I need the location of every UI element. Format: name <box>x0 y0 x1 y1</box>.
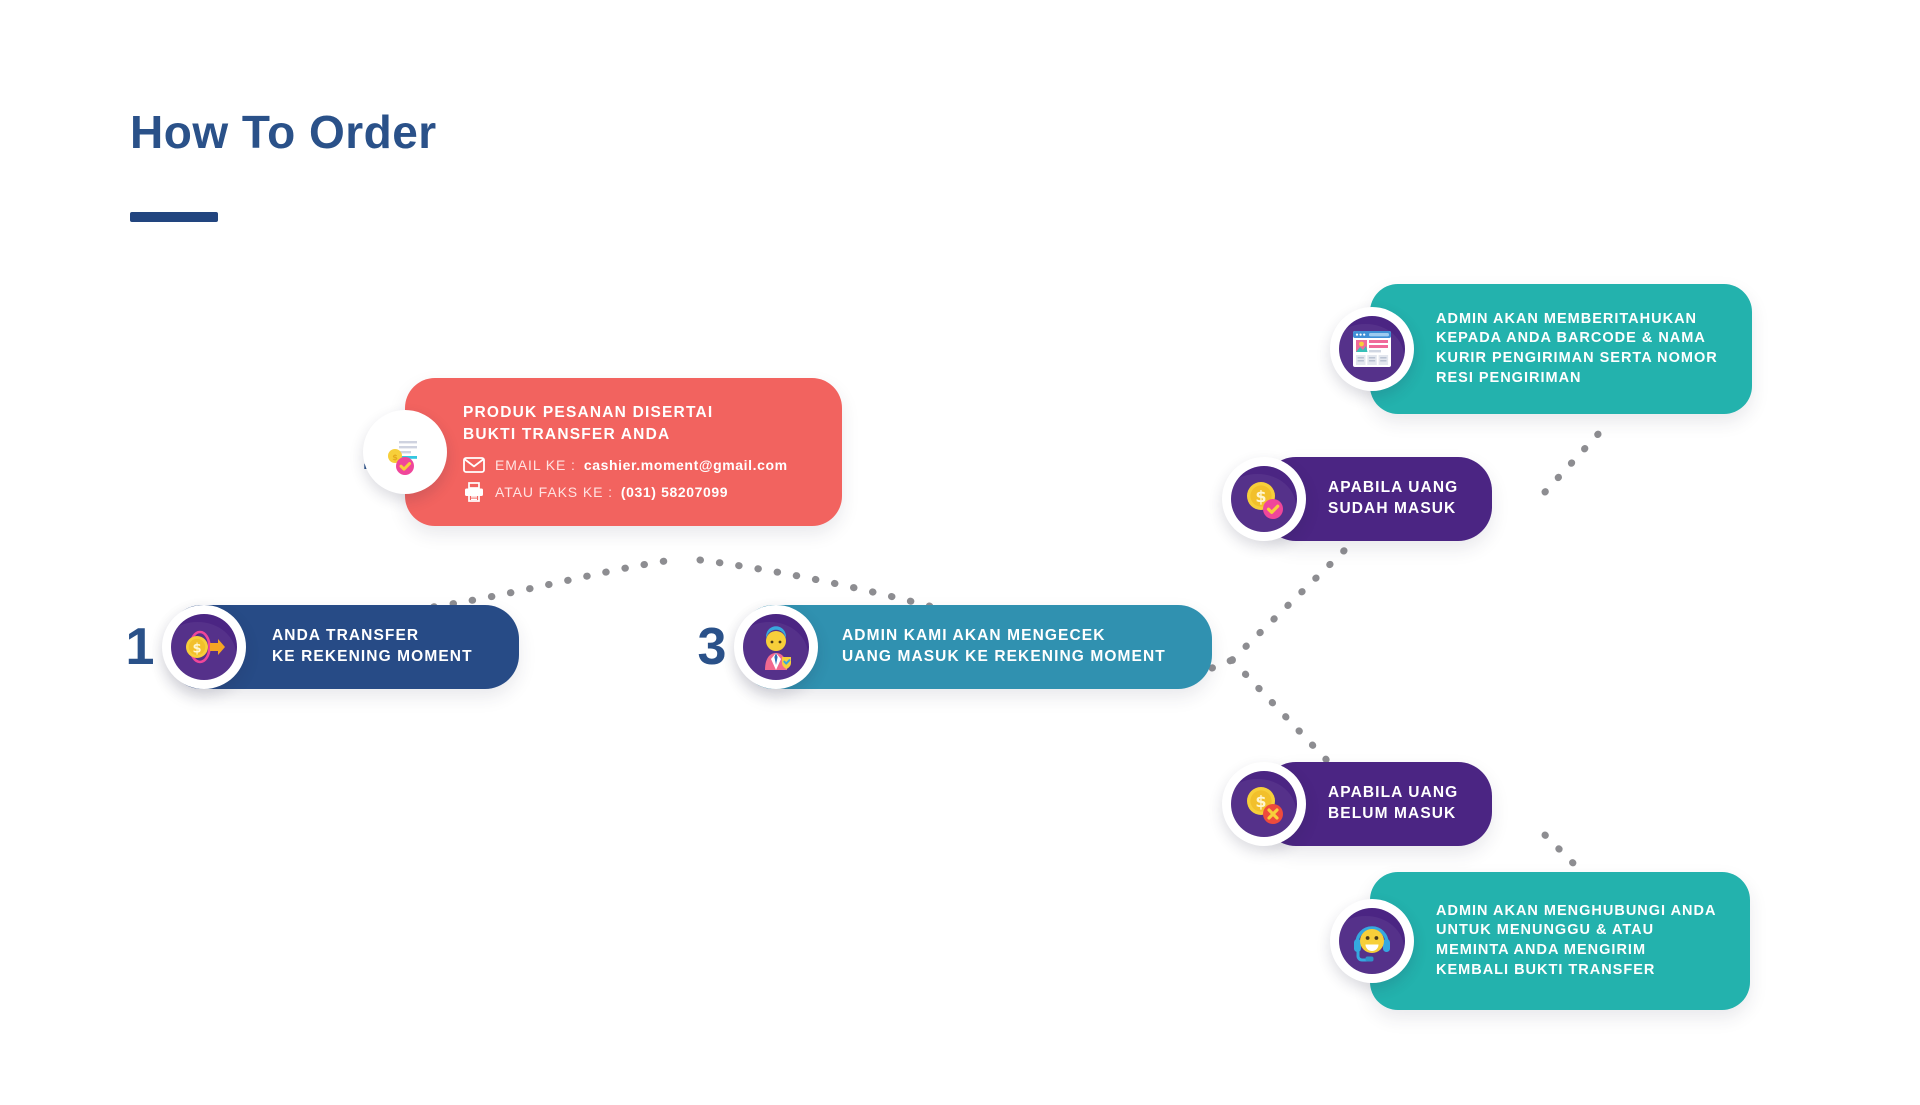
success-condition-text: APABILA UANG SUDAH MASUK <box>1306 464 1492 534</box>
infographic-canvas: How To Order .dot{ fill:none; stroke:#8d… <box>0 0 1920 1105</box>
step-3-card[interactable]: ADMIN KAMI AKAN MENGECEK UANG MASUK KE R… <box>740 605 1212 689</box>
page-title: How To Order <box>130 105 437 159</box>
step-2-body: PRODUK PESANAN DISERTAI BUKTI TRANSFER A… <box>447 394 832 510</box>
printer-icon <box>463 482 485 502</box>
step-2[interactable]: 2 $ P <box>355 378 842 526</box>
email-value[interactable]: cashier.moment@gmail.com <box>584 457 788 473</box>
step-2-card[interactable]: $ PRODUK PESANAN DISERTAI BUKTI TRANSFER… <box>405 378 842 526</box>
success-outcome-text: ADMIN AKAN MEMBERITAHUKAN KEPADA ANDA BA… <box>1414 296 1752 402</box>
fax-label: ATAU FAKS KE : <box>495 484 613 500</box>
coin-check-icon: $ <box>1222 457 1306 541</box>
coin-cross-icon: $ <box>1222 762 1306 846</box>
failure-condition[interactable]: $ APABILA UANG BELUM MASUK <box>1262 762 1492 846</box>
success-outcome-card[interactable]: ADMIN AKAN MEMBERITAHUKAN KEPADA ANDA BA… <box>1370 284 1752 414</box>
step-2-heading: PRODUK PESANAN DISERTAI BUKTI TRANSFER A… <box>463 402 788 445</box>
email-label: EMAIL KE : <box>495 457 576 473</box>
failure-condition-card[interactable]: $ APABILA UANG BELUM MASUK <box>1262 762 1492 846</box>
failure-outcome-card[interactable]: ADMIN AKAN MENGHUBUNGI ANDA UNTUK MENUNG… <box>1370 872 1750 1010</box>
failure-outcome[interactable]: ADMIN AKAN MENGHUBUNGI ANDA UNTUK MENUNG… <box>1370 872 1750 1010</box>
step-1-text: ANDA TRANSFER KE REKENING MOMENT <box>246 612 513 682</box>
connector-step3-to-branch <box>1212 660 1232 668</box>
connector-branch-to-success <box>1232 540 1355 660</box>
svg-text:$: $ <box>392 453 398 462</box>
browser-page-icon <box>1330 307 1414 391</box>
title-underline-rule <box>130 212 218 222</box>
success-condition-card[interactable]: $ APABILA UANG SUDAH MASUK <box>1262 457 1492 541</box>
step-1-card[interactable]: $ ANDA TRANSFER KE REKENING MOMENT <box>168 605 519 689</box>
step-3-text: ADMIN KAMI AKAN MENGECEK UANG MASUK KE R… <box>818 612 1206 682</box>
success-condition[interactable]: $ APABILA UANG SUDAH MASUK <box>1262 457 1492 541</box>
step-3[interactable]: 3 ADM <box>690 605 1212 689</box>
envelope-icon <box>463 455 485 475</box>
svg-text:$: $ <box>192 642 201 657</box>
fax-value[interactable]: (031) 58207099 <box>621 484 728 500</box>
support-headset-icon <box>1330 899 1414 983</box>
step-1[interactable]: 1 $ ANDA TRANSFER KE REKENING MOMENT <box>118 605 519 689</box>
step-2-email-row[interactable]: EMAIL KE : cashier.moment@gmail.com <box>463 455 788 475</box>
receipt-verified-icon: $ <box>363 410 447 494</box>
failure-outcome-text: ADMIN AKAN MENGHUBUNGI ANDA UNTUK MENUNG… <box>1414 888 1750 994</box>
failure-condition-text: APABILA UANG BELUM MASUK <box>1306 769 1492 839</box>
step-3-number: 3 <box>690 621 734 673</box>
admin-shield-icon <box>734 605 818 689</box>
money-transfer-icon: $ <box>162 605 246 689</box>
success-outcome[interactable]: ADMIN AKAN MEMBERITAHUKAN KEPADA ANDA BA… <box>1370 284 1752 414</box>
step-1-number: 1 <box>118 621 162 673</box>
connector-success-to-outcome <box>1545 432 1600 492</box>
step-2-fax-row[interactable]: ATAU FAKS KE : (031) 58207099 <box>463 482 788 502</box>
